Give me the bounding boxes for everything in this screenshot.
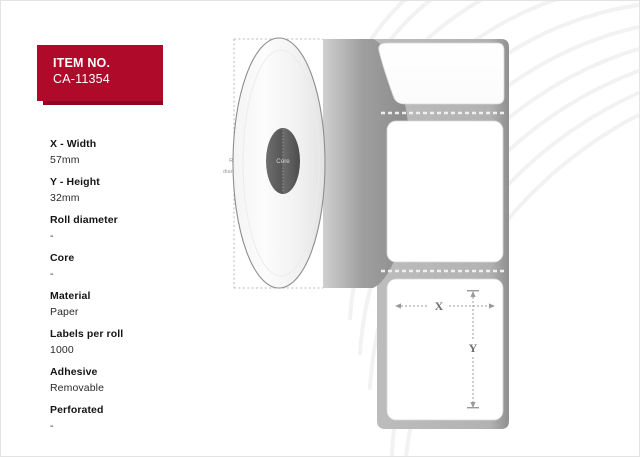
specification-list: X - Width 57mm Y - Height 32mm Roll diam… — [50, 137, 220, 441]
spec-row-adhesive: Adhesive Removable — [50, 365, 220, 396]
spec-row-height: Y - Height 32mm — [50, 175, 220, 206]
spec-label: Material — [50, 289, 220, 304]
spec-row-material: Material Paper — [50, 289, 220, 320]
spec-label: Y - Height — [50, 175, 220, 190]
spec-value: Paper — [50, 304, 220, 320]
spec-value: - — [50, 228, 220, 244]
spec-label: X - Width — [50, 137, 220, 152]
spec-value: 57mm — [50, 152, 220, 168]
y-dimension-glyph: Y — [469, 341, 478, 355]
spec-value: - — [50, 418, 220, 434]
spec-value: Removable — [50, 380, 220, 396]
label-middle — [387, 121, 503, 262]
label-roll-illustration: Roll diameter Core X — [201, 21, 621, 446]
item-number-title: ITEM NO. — [53, 55, 163, 71]
spec-row-core: Core - — [50, 251, 220, 282]
item-number-value: CA-11354 — [53, 71, 163, 88]
spec-label: Adhesive — [50, 365, 220, 380]
spec-row-width: X - Width 57mm — [50, 137, 220, 168]
spec-row-roll-diameter: Roll diameter - — [50, 213, 220, 244]
x-dimension-glyph: X — [435, 299, 444, 313]
spec-label: Roll diameter — [50, 213, 220, 228]
spec-row-perforated: Perforated - — [50, 403, 220, 434]
label-bottom — [387, 279, 503, 420]
product-spec-sheet: ITEM NO. CA-11354 X - Width 57mm Y - Hei… — [0, 0, 640, 457]
spec-value: - — [50, 266, 220, 282]
item-number-badge: ITEM NO. CA-11354 — [37, 45, 163, 101]
spec-label: Core — [50, 251, 220, 266]
spec-value: 1000 — [50, 342, 220, 358]
spec-row-labels-per-roll: Labels per roll 1000 — [50, 327, 220, 358]
spec-label: Perforated — [50, 403, 220, 418]
label-top — [379, 43, 504, 104]
core-label: Core — [276, 158, 290, 165]
spec-value: 32mm — [50, 190, 220, 206]
spec-label: Labels per roll — [50, 327, 220, 342]
